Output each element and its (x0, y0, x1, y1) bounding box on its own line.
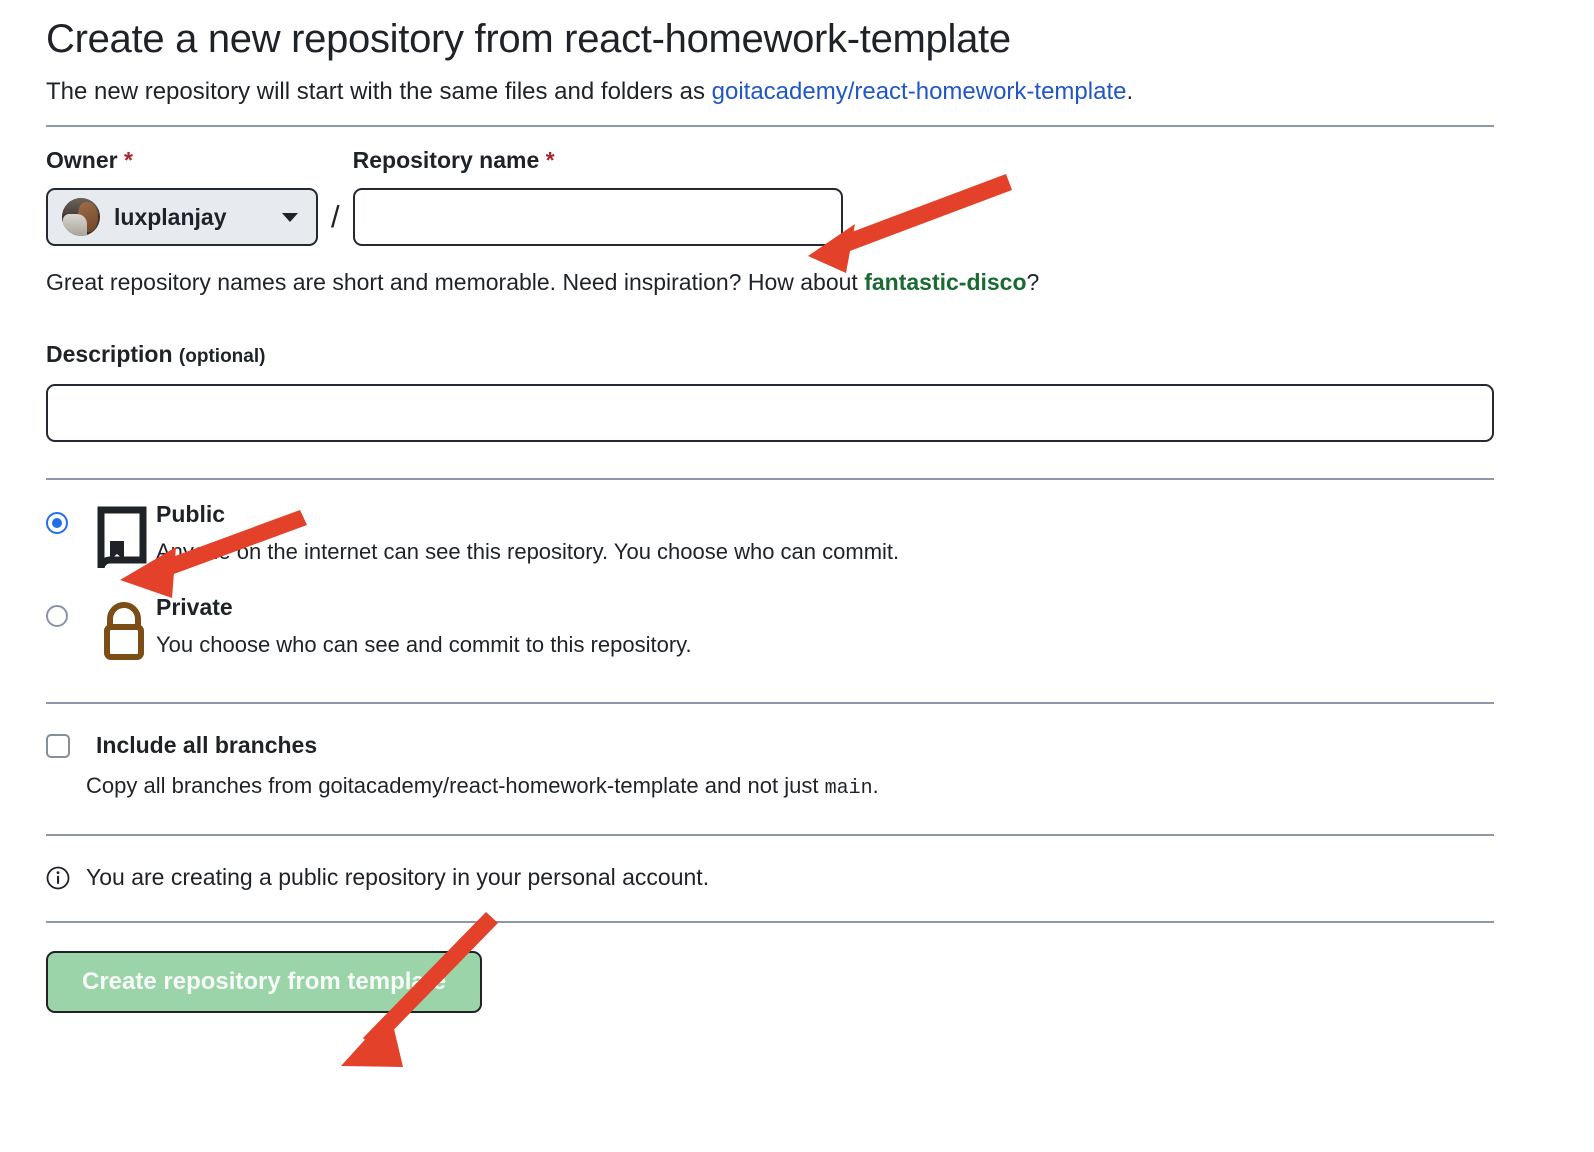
checkbox-include-all-branches[interactable] (46, 734, 70, 758)
repository-name-input[interactable] (353, 188, 843, 246)
owner-name-separator: / (331, 188, 340, 246)
form-content: Create a new repository from react-homew… (46, 0, 1494, 1013)
divider-notice (46, 921, 1494, 923)
chevron-down-icon (282, 213, 298, 222)
owner-and-name-row: Owner * luxplanjay / Repository name * (46, 149, 1494, 246)
visibility-notice: You are creating a public repository in … (46, 864, 1494, 891)
repo-book-icon (96, 506, 152, 573)
owner-name: luxplanjay (114, 206, 226, 229)
description-optional-note: (optional) (179, 346, 266, 367)
page-subtitle-suffix: . (1126, 78, 1133, 105)
divider-branches (46, 834, 1494, 836)
include-all-branches-row[interactable]: Include all branches (46, 732, 1494, 759)
page-subtitle: The new repository will start with the s… (46, 76, 1494, 107)
avatar (62, 198, 100, 236)
divider-visibility (46, 702, 1494, 704)
owner-label: Owner * (46, 149, 318, 172)
visibility-private-text: Private You choose who can see and commi… (156, 595, 692, 660)
create-repository-page: Create a new repository from react-homew… (0, 0, 1594, 1152)
owner-label-text: Owner (46, 147, 118, 173)
owner-required-marker: * (124, 147, 133, 173)
page-title: Create a new repository from react-homew… (46, 16, 1494, 63)
visibility-public-text: Public Anyone on the internet can see th… (156, 502, 899, 567)
separator-block: / (318, 149, 353, 246)
branches-description-prefix: Copy all branches from goitacademy/react… (86, 773, 825, 798)
visibility-notice-text: You are creating a public repository in … (86, 864, 709, 891)
default-branch-name: main (825, 777, 873, 800)
description-label: Description (optional) (46, 341, 1494, 368)
lock-icon (96, 599, 152, 666)
suggested-repository-name[interactable]: fantastic-disco (864, 269, 1026, 295)
description-label-text: Description (46, 341, 173, 367)
repository-name-label: Repository name * (353, 149, 843, 172)
hint-prefix: Great repository names are short and mem… (46, 269, 864, 295)
hint-suffix: ? (1027, 269, 1040, 295)
info-icon (46, 866, 70, 890)
include-all-branches-description: Copy all branches from goitacademy/react… (86, 773, 1494, 800)
owner-select-button[interactable]: luxplanjay (46, 188, 318, 246)
repository-name-hint: Great repository names are short and mem… (46, 268, 1494, 297)
visibility-private-title: Private (156, 594, 233, 620)
visibility-private-description: You choose who can see and commit to thi… (156, 631, 692, 660)
branches-description-suffix: . (873, 773, 879, 798)
repository-name-field: Repository name * (353, 149, 843, 246)
include-all-branches-label: Include all branches (96, 732, 317, 759)
repository-name-required-marker: * (546, 147, 555, 173)
template-repository-link[interactable]: goitacademy/react-homework-template (712, 78, 1127, 105)
page-subtitle-prefix: The new repository will start with the s… (46, 78, 712, 105)
radio-public[interactable] (46, 512, 68, 534)
description-input[interactable] (46, 384, 1494, 442)
radio-private[interactable] (46, 605, 68, 627)
divider-header (46, 125, 1494, 127)
visibility-option-public[interactable]: Public Anyone on the internet can see th… (46, 502, 1494, 573)
visibility-option-private[interactable]: Private You choose who can see and commi… (46, 595, 1494, 666)
divider-description (46, 478, 1494, 480)
visibility-public-title: Public (156, 501, 225, 527)
repository-name-label-text: Repository name (353, 147, 540, 173)
create-repository-from-template-button[interactable]: Create repository from template (46, 951, 482, 1013)
owner-field: Owner * luxplanjay (46, 149, 318, 246)
visibility-public-description: Anyone on the internet can see this repo… (156, 538, 899, 567)
